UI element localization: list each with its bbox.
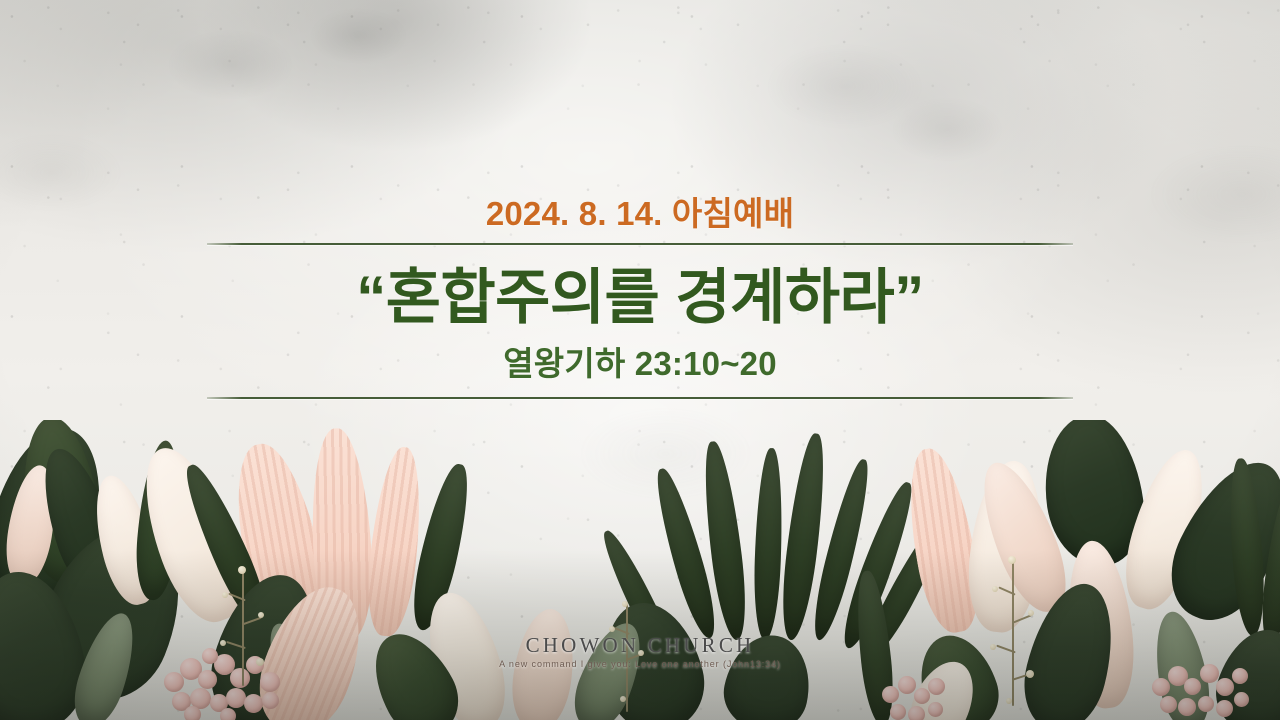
sermon-title: “혼합주의를 경계하라” — [0, 263, 1280, 334]
church-logo: CHOWON CHURCH A new command I give you: … — [0, 634, 1280, 670]
title-block: 2024. 8. 14. 아침예배 “혼합주의를 경계하라” 열왕기하 23:1… — [0, 196, 1280, 399]
berry-cluster — [880, 672, 956, 720]
divider-rule-bottom — [207, 397, 1073, 399]
dried-sprig — [214, 570, 274, 690]
scripture-reference: 열왕기하 23:10~20 — [0, 344, 1280, 384]
church-name: CHOWON CHURCH — [0, 634, 1280, 657]
botanical-arrangement — [0, 420, 1280, 720]
sermon-title-slide: 2024. 8. 14. 아침예배 “혼합주의를 경계하라” 열왕기하 23:1… — [0, 0, 1280, 720]
divider-rule-top — [207, 243, 1073, 245]
church-verse-tagline: A new command I give you: Love one anoth… — [0, 660, 1280, 670]
service-date: 2024. 8. 14. 아침예배 — [0, 196, 1280, 233]
leaf — [752, 448, 785, 641]
